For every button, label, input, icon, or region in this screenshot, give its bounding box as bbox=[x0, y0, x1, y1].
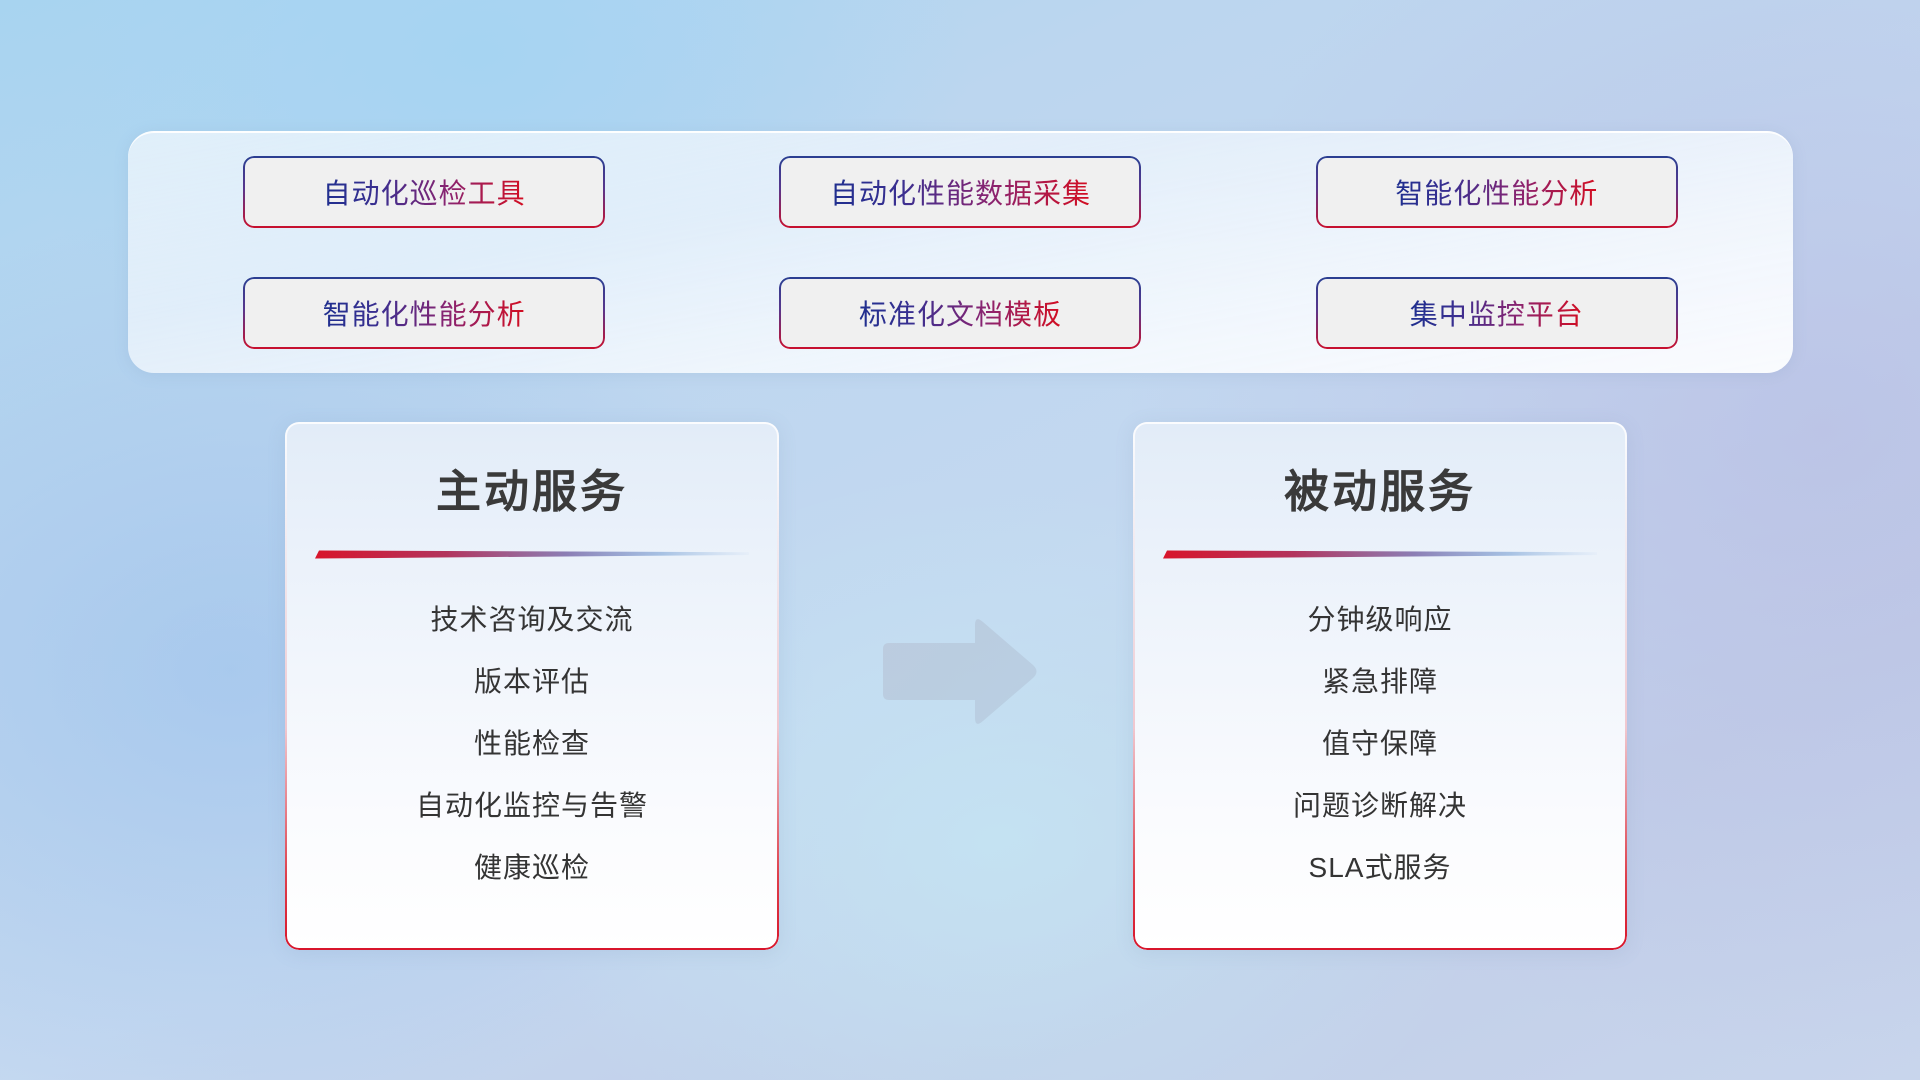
capability-tag-panel: 自动化巡检工具 自动化性能数据采集 智能化性能分析 智能化性能分析 标准化文档模… bbox=[128, 131, 1793, 373]
capability-tag-label: 自动化巡检工具 bbox=[323, 172, 526, 212]
service-list-item: 问题诊断解决 bbox=[1133, 775, 1627, 837]
service-list-item: SLA式服务 bbox=[1133, 837, 1627, 899]
title-divider bbox=[315, 548, 749, 559]
capability-tag[interactable]: 自动化巡检工具 bbox=[245, 158, 603, 226]
service-list-item: 版本评估 bbox=[285, 651, 779, 713]
capability-tag[interactable]: 智能化性能分析 bbox=[245, 279, 603, 347]
service-card-reactive: 被动服务 分钟级响应 紧急排障 值守保障 问题诊断解决 SLA式服务 bbox=[1133, 422, 1627, 950]
service-list-item: 值守保障 bbox=[1133, 713, 1627, 775]
service-list-item: 自动化监控与告警 bbox=[285, 775, 779, 837]
capability-tag[interactable]: 标准化文档模板 bbox=[781, 279, 1139, 347]
capability-tag[interactable]: 集中监控平台 bbox=[1318, 279, 1676, 347]
service-item-list: 分钟级响应 紧急排障 值守保障 问题诊断解决 SLA式服务 bbox=[1133, 589, 1627, 899]
service-list-item: 性能检查 bbox=[285, 713, 779, 775]
service-card-title: 被动服务 bbox=[1133, 455, 1627, 520]
service-card-title: 主动服务 bbox=[285, 455, 779, 520]
capability-tag-label: 自动化性能数据采集 bbox=[830, 172, 1091, 212]
capability-tag[interactable]: 智能化性能分析 bbox=[1318, 158, 1676, 226]
service-list-item: 技术咨询及交流 bbox=[285, 589, 779, 651]
service-list-item: 分钟级响应 bbox=[1133, 589, 1627, 651]
service-card-proactive: 主动服务 技术咨询及交流 版本评估 性能检查 自动化监控与告警 健康巡检 bbox=[285, 422, 779, 950]
capability-tag-label: 智能化性能分析 bbox=[1395, 172, 1598, 212]
capability-tag-label: 集中监控平台 bbox=[1410, 293, 1584, 333]
service-list-item: 紧急排障 bbox=[1133, 651, 1627, 713]
arrow-right-icon bbox=[877, 613, 1040, 730]
capability-tag-label: 标准化文档模板 bbox=[859, 293, 1062, 333]
title-divider bbox=[1163, 548, 1597, 559]
service-list-item: 健康巡检 bbox=[285, 837, 779, 899]
capability-tag[interactable]: 自动化性能数据采集 bbox=[781, 158, 1139, 226]
service-item-list: 技术咨询及交流 版本评估 性能检查 自动化监控与告警 健康巡检 bbox=[285, 589, 779, 899]
capability-tag-label: 智能化性能分析 bbox=[323, 293, 526, 333]
